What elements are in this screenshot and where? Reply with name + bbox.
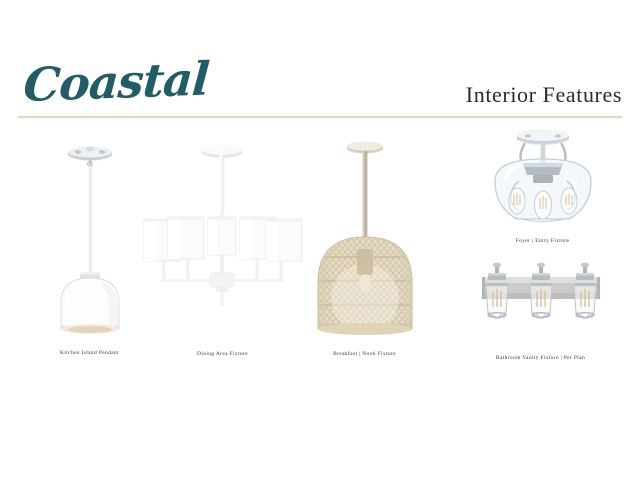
- presentation-slide: Coastal Interior Features: [0, 0, 640, 480]
- dining-area-chandelier-icon: [140, 133, 305, 348]
- fixture-card-foyer-entry-fixture: Foyer | Entry Fixture: [455, 125, 630, 244]
- page-title: Interior Features: [466, 82, 622, 108]
- kitchen-island-pendant-icon: [30, 133, 150, 348]
- glass-semi-flush-mount-icon: [473, 125, 613, 237]
- rattan-dome-pendant-icon: [300, 133, 430, 348]
- fixture-caption: Foyer | Entry Fixture: [455, 238, 630, 244]
- fixture-card-breakfast-nook-fixture: Breakfast | Nook Fixture: [292, 133, 437, 357]
- fixture-board: Kitchen Island Pendant: [0, 125, 640, 385]
- slide-header: Coastal Interior Features: [0, 0, 640, 125]
- fixture-caption: Dining Area Fixture: [140, 351, 305, 357]
- fixture-caption: Bathroom Vanity Fixture | Per Plan: [448, 355, 633, 361]
- fixture-caption: Breakfast | Nook Fixture: [292, 351, 437, 357]
- fixture-card-bathroom-vanity-fixture: Bathroom Vanity Fixture | Per Plan: [448, 247, 633, 361]
- vanity-bar-light-icon: [466, 247, 616, 352]
- brand-title: Coastal: [22, 56, 210, 108]
- fixture-card-dining-area-fixture: Dining Area Fixture: [140, 133, 305, 357]
- header-divider: [18, 116, 622, 118]
